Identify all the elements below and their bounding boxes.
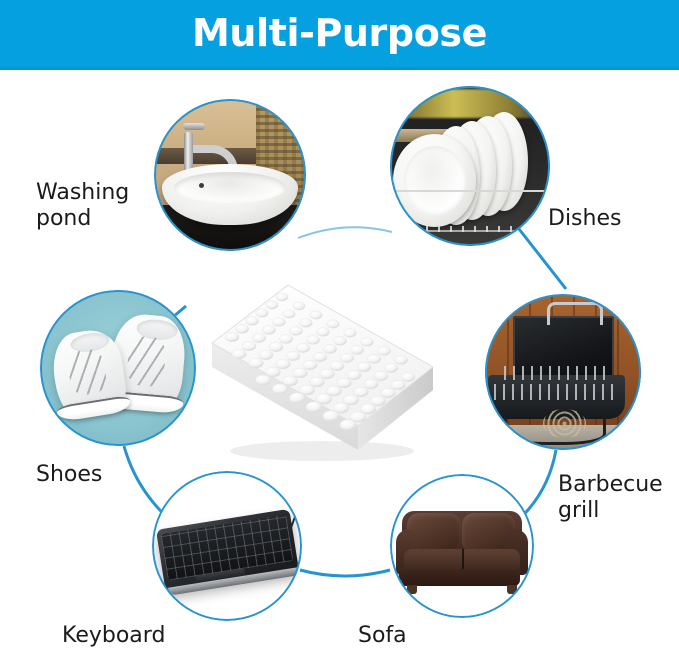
- photo-sofa: [390, 474, 534, 618]
- node-barbecue-grill[interactable]: [485, 294, 641, 450]
- photo-sneakers: [40, 290, 196, 446]
- photo-barbecue-grill: [485, 294, 641, 450]
- label-washing-pond: Washing pond: [36, 180, 156, 232]
- label-dishes: Dishes: [548, 206, 668, 232]
- label-shoes: Shoes: [36, 462, 156, 488]
- product-illustration: [210, 275, 435, 475]
- node-washing-pond[interactable]: [154, 99, 306, 251]
- label-sofa: Sofa: [358, 623, 478, 649]
- node-keyboard[interactable]: [152, 471, 302, 621]
- photo-bathroom-sink: [154, 99, 306, 251]
- product-bumper-pad-sheet: [210, 275, 435, 475]
- connector-keyboard-sofa: [300, 570, 390, 576]
- photo-keyboard: [152, 471, 302, 621]
- photo-dish-rack: [390, 86, 550, 246]
- node-shoes[interactable]: [40, 290, 196, 446]
- connector-sink-dishes: [298, 227, 392, 238]
- multi-purpose-infographic: Multi-Purpose: [0, 0, 679, 658]
- label-barbecue-grill: Barbecue grill: [558, 472, 679, 524]
- label-keyboard: Keyboard: [62, 623, 222, 649]
- node-dishes[interactable]: [390, 86, 550, 246]
- diagram-canvas: Washing pond: [0, 70, 679, 658]
- header-banner: Multi-Purpose: [0, 0, 679, 70]
- node-sofa[interactable]: [390, 474, 534, 618]
- page-title: Multi-Purpose: [0, 0, 679, 67]
